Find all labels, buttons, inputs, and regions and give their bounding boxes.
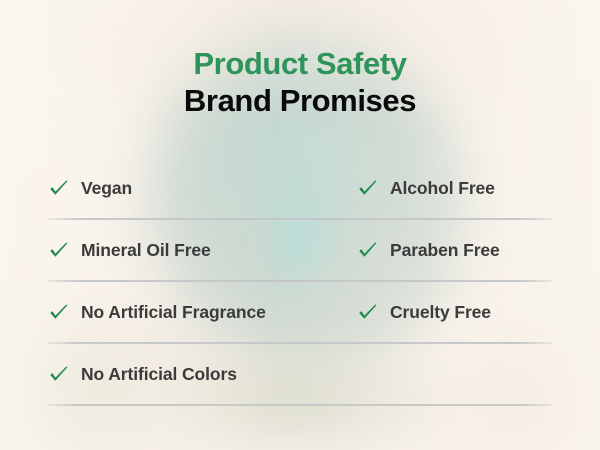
promise-label: Mineral Oil Free [81,240,211,261]
promise-row: Vegan Alcohol Free [48,158,552,220]
promise-row: No Artificial Fragrance Cruelty Free [48,282,552,344]
promise-label: Cruelty Free [390,302,491,323]
promise-item-no-artificial-fragrance: No Artificial Fragrance [48,282,266,342]
promise-item-alcohol-free: Alcohol Free [357,158,495,218]
row-divider [48,404,552,406]
promise-row: Mineral Oil Free Paraben Free [48,220,552,282]
check-icon [48,364,69,385]
promise-list: Vegan Alcohol Free Mineral Oil Free [48,158,552,406]
promise-label: Vegan [81,178,132,199]
product-safety-card: Product Safety Brand Promises Vegan Alco… [0,0,600,450]
promise-row: No Artificial Colors [48,344,552,406]
promise-label: No Artificial Fragrance [81,302,266,323]
promise-label: Paraben Free [390,240,500,261]
promise-item-no-artificial-colors: No Artificial Colors [48,344,237,404]
card-content: Product Safety Brand Promises Vegan Alco… [0,0,600,450]
promise-item-vegan: Vegan [48,158,132,218]
promise-label: No Artificial Colors [81,364,237,385]
page-title-line-2: Brand Promises [0,83,600,120]
check-icon [357,240,378,261]
promise-label: Alcohol Free [390,178,495,199]
check-icon [357,178,378,199]
check-icon [48,240,69,261]
check-icon [48,178,69,199]
check-icon [48,302,69,323]
promise-item-cruelty-free: Cruelty Free [357,282,491,342]
promise-item-paraben-free: Paraben Free [357,220,500,280]
check-icon [357,302,378,323]
page-title-line-1: Product Safety [0,46,600,83]
promise-item-mineral-oil-free: Mineral Oil Free [48,220,211,280]
page-title: Product Safety Brand Promises [0,46,600,119]
